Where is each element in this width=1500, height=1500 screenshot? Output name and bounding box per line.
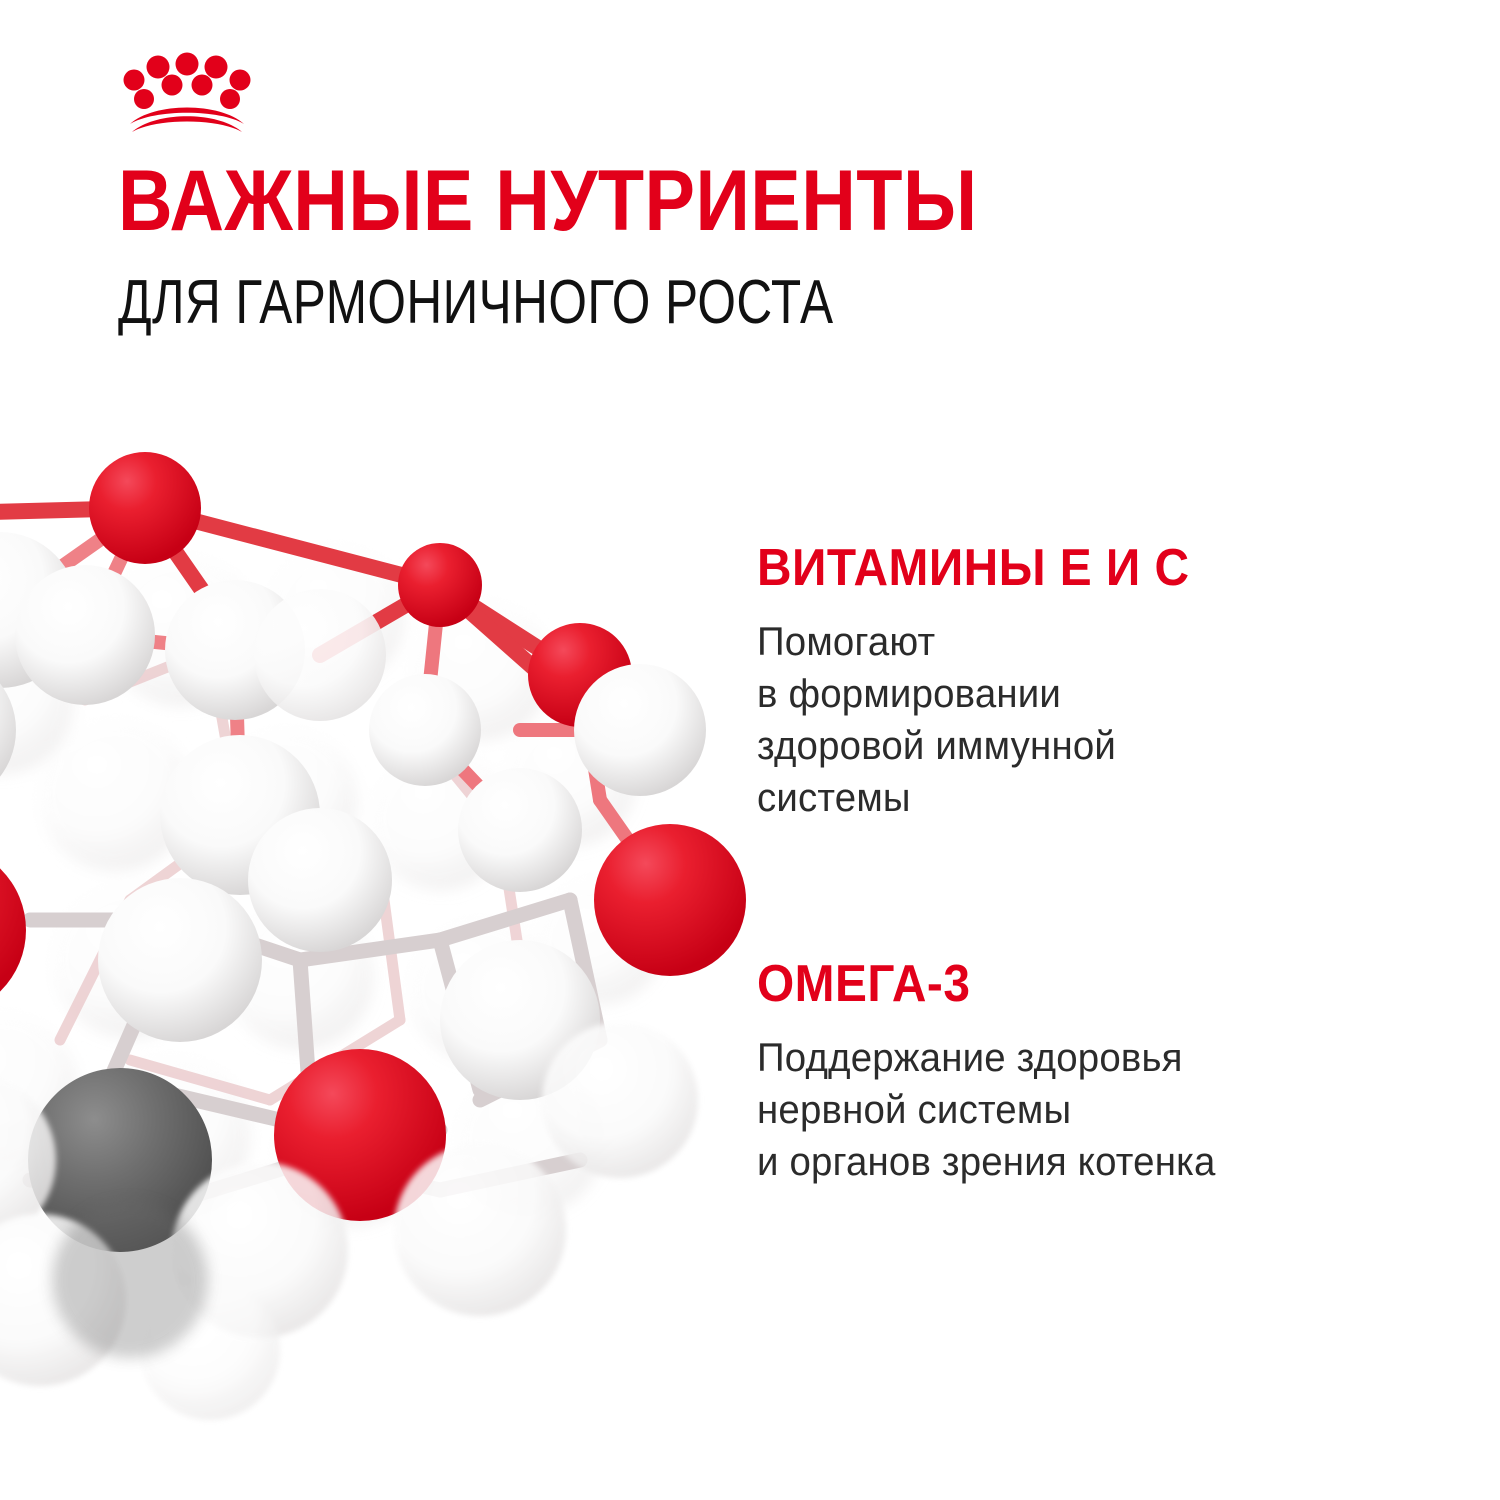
- nutrient-block-omega: ОМЕГА-3 Поддержание здоровья нервной сис…: [757, 958, 1477, 1188]
- body-line: Поддержание здоровья: [757, 1032, 1448, 1084]
- royal-canin-crown-icon: [112, 52, 262, 132]
- page-subtitle: ДЛЯ ГАРМОНИЧНОГО РОСТА: [118, 272, 833, 334]
- body-line: системы: [757, 772, 1448, 824]
- block-body-omega: Поддержание здоровья нервной системы и о…: [757, 1032, 1448, 1188]
- body-line: здоровой иммунной: [757, 720, 1448, 772]
- page-title: ВАЖНЫЕ НУТРИЕНТЫ: [118, 160, 978, 243]
- block-title-omega: ОМЕГА-3: [757, 958, 1419, 1010]
- nutrient-block-vitamins: ВИТАМИНЫ Е И С Помогают в формировании з…: [757, 542, 1477, 824]
- poster-canvas: ВАЖНЫЕ НУТРИЕНТЫ ДЛЯ ГАРМОНИЧНОГО РОСТА: [0, 0, 1500, 1500]
- body-line: нервной системы: [757, 1084, 1448, 1136]
- body-line: Помогают: [757, 616, 1448, 668]
- block-body-vitamins: Помогают в формировании здоровой иммунно…: [757, 616, 1448, 824]
- body-line: в формировании: [757, 668, 1448, 720]
- molecule-illustration: [0, 400, 780, 1450]
- block-title-vitamins: ВИТАМИНЫ Е И С: [757, 542, 1419, 594]
- body-line: и органов зрения котенка: [757, 1136, 1448, 1188]
